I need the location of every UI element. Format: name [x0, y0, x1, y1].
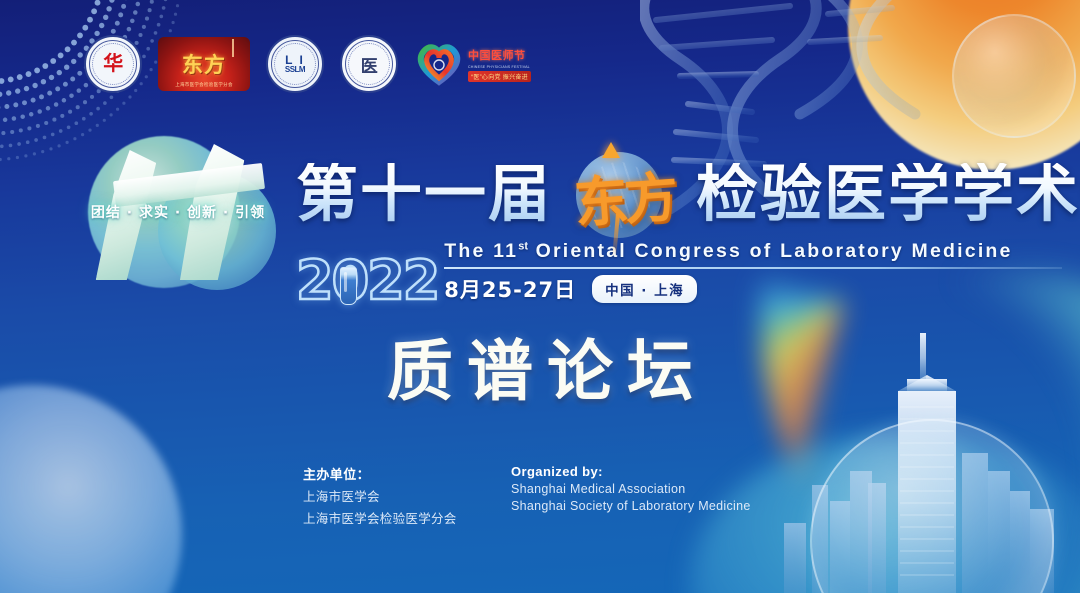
logo-strip: 华 东方 上海市医学会检验医学分会 L I SSLM 医 [84, 34, 532, 94]
organizers-cn-heading: 主办单位： [303, 464, 511, 483]
title-cn-oriental: 东方 [551, 143, 697, 247]
festival-title: 中国医师节 [468, 47, 531, 63]
subtitle-row: 2022 The 11st Oriental Congress of Labor… [296, 240, 1026, 306]
logo-china-medical-association-seal: 华 [84, 36, 142, 92]
emblem-slogan: 团结 · 求实 · 创新 · 引领 [72, 202, 284, 222]
logo-shanghai-medical-association-seal: 医 [340, 36, 398, 92]
year-text: 2022 [296, 249, 438, 312]
year-label: 2022 [296, 256, 444, 306]
bubble-top-right [952, 14, 1076, 138]
test-tube-icon [340, 267, 357, 305]
english-title: The 11st Oriental Congress of Laboratory… [444, 240, 1062, 263]
heart-ribbon-icon [415, 41, 463, 87]
bubble-bottom-left [0, 385, 182, 593]
logo-oriental-sub: 上海市医学会检验医学分会 [158, 82, 250, 88]
logo-china-physicians-day: 中国医师节 CHINESE PHYSICIANS FESTIVAL “医”心向党… [414, 38, 532, 90]
forum-title: 质谱论坛 [0, 318, 1080, 414]
date-row: 8月25-27日 中国 · 上海 [444, 274, 1062, 304]
seal-mark: 医 [361, 52, 378, 77]
conference-banner: 华 东方 上海市医学会检验医学分会 L I SSLM 医 [0, 0, 1080, 593]
oriental-emblem: 东方 [554, 146, 694, 242]
organizers-cn: 主办单位： 上海市医学会 上海市医学会检验医学分会 [303, 464, 511, 527]
logo-sslm-seal: L I SSLM [266, 36, 324, 92]
organizer-cn-line: 上海市医学会 [303, 486, 511, 505]
organizer-en-line: Shanghai Society of Laboratory Medicine [511, 499, 751, 513]
tower-accent [232, 39, 234, 57]
logo-oriental-congress-red: 东方 上海市医学会检验医学分会 [158, 37, 250, 91]
event-location-badge: 中国 · 上海 [592, 275, 697, 303]
title-cn-prefix: 第十一届 [296, 163, 552, 225]
event-date: 8月25-27日 [444, 274, 576, 304]
bubble-bottom-right [810, 419, 1054, 593]
organizers-en: Organized by: Shanghai Medical Associati… [511, 464, 751, 527]
divider-rule [444, 267, 1062, 269]
english-title-main: The 11 [444, 240, 518, 262]
organizer-en-line: Shanghai Medical Association [511, 482, 751, 496]
title-cn-suffix: 检验医学学术会议 [696, 163, 1080, 225]
english-title-sup: st [518, 241, 528, 253]
logo-oriental-cn: 东方 [182, 49, 226, 79]
star-icon [602, 142, 620, 158]
seal-mark: 华 [103, 54, 123, 74]
sun-gradient-circle [848, 0, 1080, 170]
edition-emblem: 团结 · 求实 · 创新 · 引领 [62, 128, 292, 293]
festival-subtitle: CHINESE PHYSICIANS FESTIVAL [468, 65, 531, 69]
organizers-en-heading: Organized by: [511, 464, 751, 479]
organizer-cn-line: 上海市医学会检验医学分会 [303, 508, 511, 527]
organizers-block: 主办单位： 上海市医学会 上海市医学会检验医学分会 Organized by: … [303, 464, 751, 527]
sslm-abbr: SSLM [285, 65, 305, 74]
title-block: 第十一届 东方 检验医学学术会议 2022 The 11st Oriental … [296, 146, 1026, 306]
main-title: 第十一届 东方 检验医学学术会议 [296, 146, 1026, 242]
subtitle-right: The 11st Oriental Congress of Laboratory… [444, 240, 1062, 306]
festival-tagline: “医”心向党 振兴奋进 [468, 71, 531, 82]
